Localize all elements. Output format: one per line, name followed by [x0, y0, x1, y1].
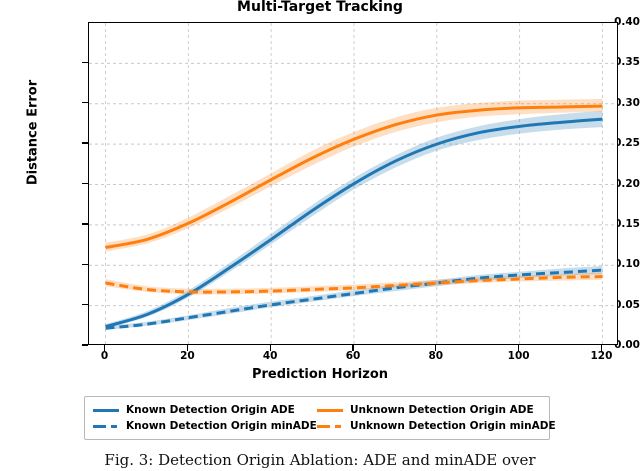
- x-tick-mark: [270, 345, 271, 351]
- legend-label: Unknown Detection Origin minADE: [350, 420, 556, 432]
- x-tick-mark: [187, 345, 188, 351]
- x-tick-mark: [518, 345, 519, 351]
- x-tick-label: 40: [263, 350, 278, 362]
- legend-solid-line-icon: [93, 404, 119, 416]
- x-tick-label: 80: [429, 350, 444, 362]
- x-tick-label: 100: [508, 350, 530, 362]
- legend-entry[interactable]: Unknown Detection Origin minADE: [317, 418, 541, 434]
- legend-label: Known Detection Origin ADE: [126, 404, 295, 416]
- plot-inner: [89, 23, 617, 344]
- plot-area: [88, 22, 618, 345]
- legend-entry[interactable]: Unknown Detection Origin ADE: [317, 402, 541, 418]
- x-tick-label: 20: [180, 350, 195, 362]
- x-tick-mark: [435, 345, 436, 351]
- x-tick-mark: [601, 345, 602, 351]
- legend-entry[interactable]: Known Detection Origin minADE: [93, 418, 317, 434]
- x-tick-mark: [352, 345, 353, 351]
- legend-label: Unknown Detection Origin ADE: [350, 404, 534, 416]
- chart-legend: Known Detection Origin ADEUnknown Detect…: [84, 396, 550, 440]
- legend-entry[interactable]: Known Detection Origin ADE: [93, 402, 317, 418]
- x-axis-label: Prediction Horizon: [0, 367, 640, 382]
- legend-grid: Known Detection Origin ADEUnknown Detect…: [93, 402, 541, 434]
- figure-container: Multi-Target Tracking Distance Error 0.0…: [0, 0, 640, 471]
- x-tick-label: 0: [101, 350, 108, 362]
- legend-solid-line-icon: [317, 404, 343, 416]
- x-tick-label: 60: [346, 350, 361, 362]
- legend-dashed-line-icon: [93, 420, 119, 432]
- x-tick-mark: [104, 345, 105, 351]
- chart-title: Multi-Target Tracking: [0, 0, 640, 15]
- x-tick-label: 120: [590, 350, 612, 362]
- chart-canvas: [89, 23, 617, 344]
- figure-caption: Fig. 3: Detection Origin Ablation: ADE a…: [0, 451, 640, 469]
- y-axis-label: Distance Error: [26, 33, 41, 233]
- legend-dashed-line-icon: [317, 420, 343, 432]
- legend-label: Known Detection Origin minADE: [126, 420, 317, 432]
